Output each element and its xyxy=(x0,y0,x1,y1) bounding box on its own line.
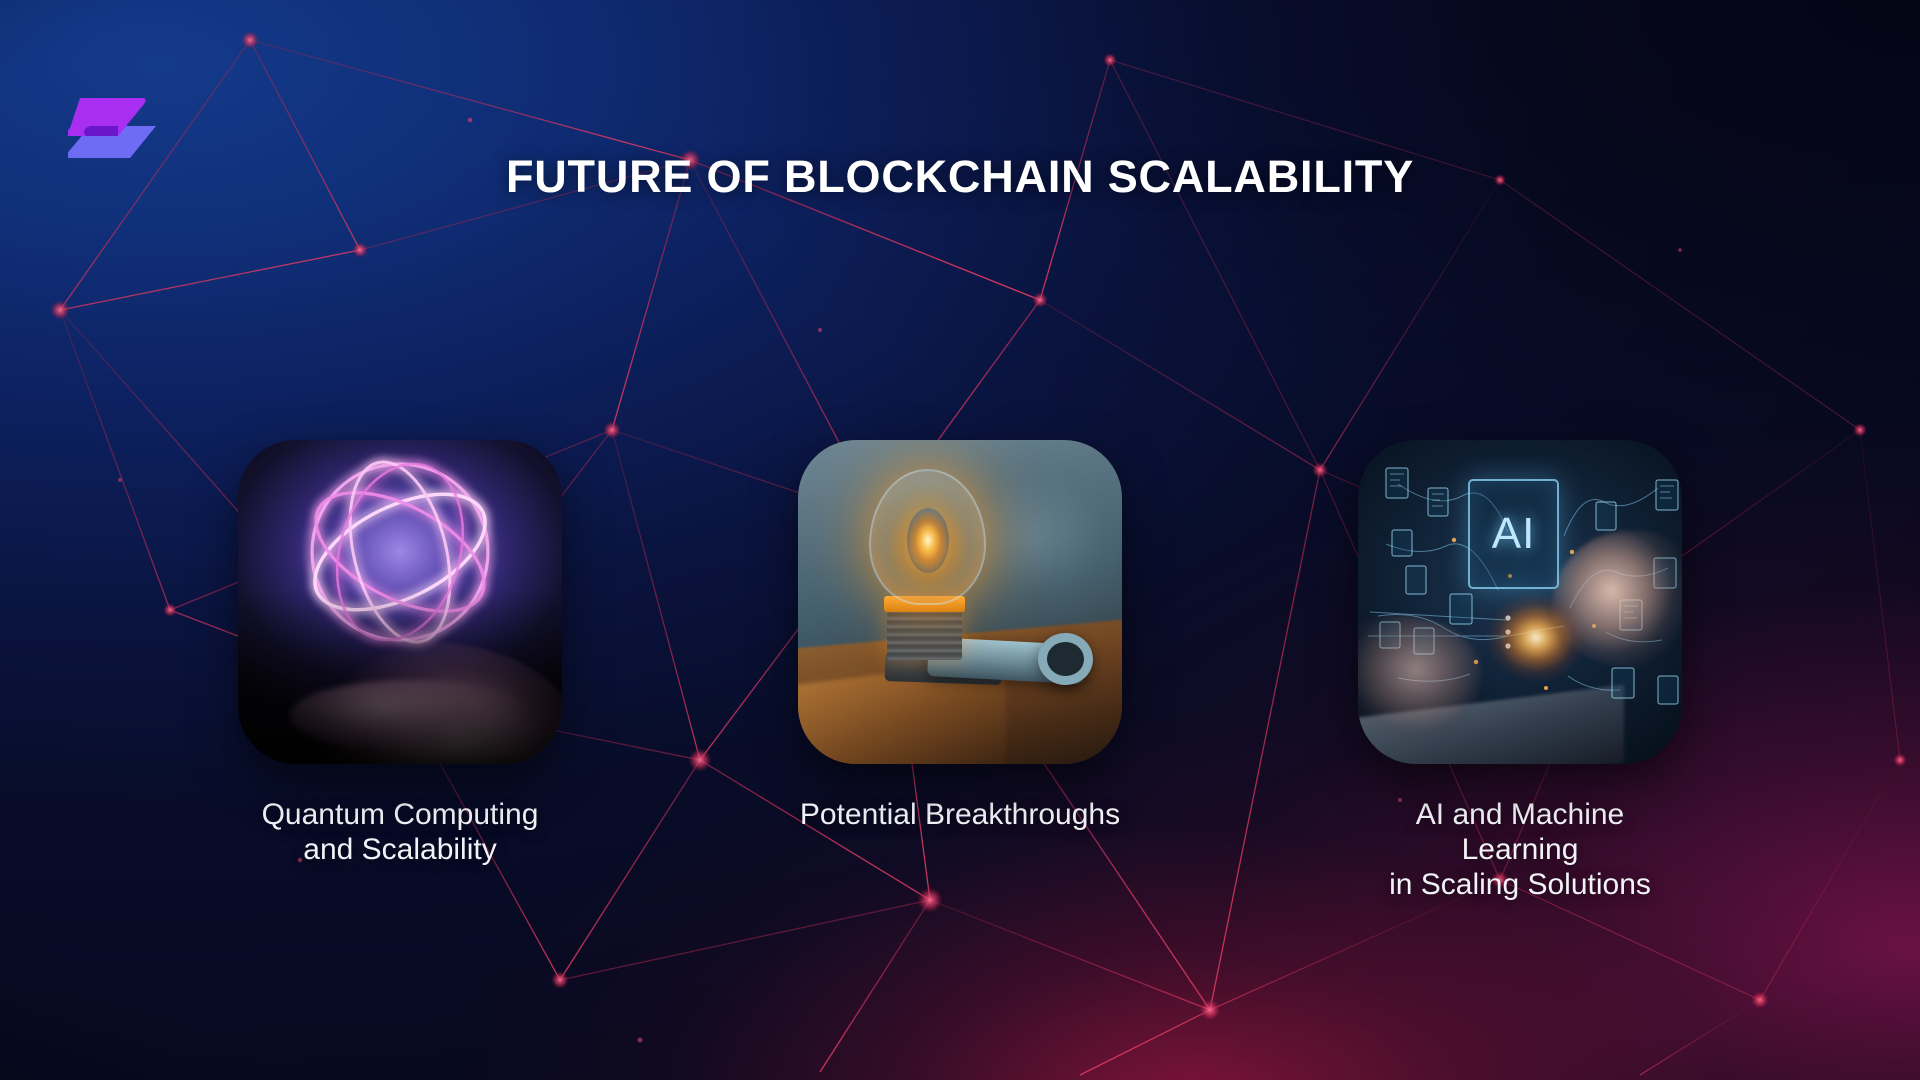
center-light-burst xyxy=(1481,589,1591,686)
ai-chip-network-hands-image: AI xyxy=(1358,440,1682,764)
feature-card-caption: Quantum Computing and Scalability xyxy=(262,798,539,868)
feature-card-row: Quantum Computing and Scalability xyxy=(0,440,1920,902)
feature-card-breakthroughs[interactable]: Potential Breakthroughs xyxy=(798,440,1122,902)
brand-chevron-logo[interactable] xyxy=(68,96,158,160)
presentation-slide: FUTURE OF BLOCKCHAIN SCALABILITY xyxy=(0,0,1920,1080)
page-title: FUTURE OF BLOCKCHAIN SCALABILITY xyxy=(0,152,1920,202)
lightbulb-filament-glow xyxy=(907,508,949,573)
feature-card-quantum[interactable]: Quantum Computing and Scalability xyxy=(238,440,562,902)
feature-card-ai[interactable]: AI AI and Machine Learning in Scaling So… xyxy=(1358,440,1682,902)
quantum-sphere-in-hand-image xyxy=(238,440,562,764)
glowing-lightbulb-wrench-image xyxy=(798,440,1122,764)
ai-chip-label: AI xyxy=(1468,479,1559,589)
feature-card-caption: AI and Machine Learning in Scaling Solut… xyxy=(1358,798,1682,902)
feature-card-caption: Potential Breakthroughs xyxy=(800,798,1120,833)
